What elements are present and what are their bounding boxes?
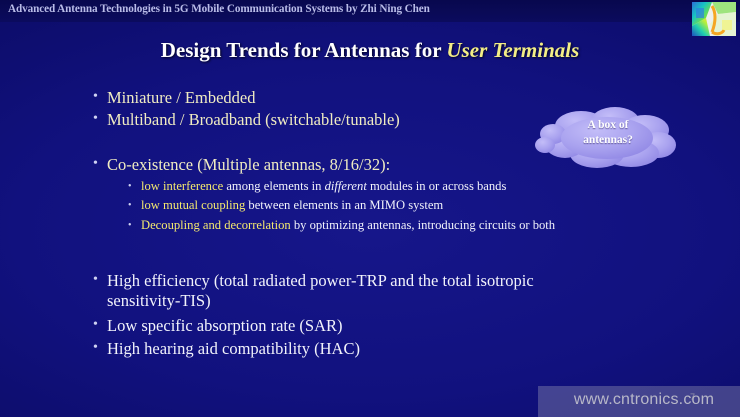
cloud-callout: A box of antennas?: [527, 104, 689, 172]
bullet-item-l1: •Low specific absorption rate (SAR): [93, 316, 343, 336]
bullet-segment: among elements in: [223, 179, 324, 193]
bullet-segment: low mutual coupling: [141, 198, 245, 212]
bullet-segment: different: [325, 179, 367, 193]
presentation-title: Advanced Antenna Technologies in 5G Mobi…: [8, 3, 430, 15]
bullet-text: Decoupling and decorrelation by optimizi…: [141, 218, 555, 234]
watermark-url: www.cntronics.com: [548, 391, 740, 409]
bullet-segment: by optimizing antennas, introducing circ…: [291, 218, 555, 232]
bullet-segment: Miniature / Embedded: [107, 88, 255, 107]
bullet-dot-icon: •: [93, 110, 107, 129]
bullet-segment: High efficiency (total radiated power-TR…: [107, 271, 534, 310]
bullet-item-l1: •High efficiency (total radiated power-T…: [93, 271, 563, 312]
bullet-item-l1: •High hearing aid compatibility (HAC): [93, 339, 360, 359]
page-title: Design Trends for Antennas for User Term…: [0, 38, 740, 63]
bullet-segment: Low specific absorption rate (SAR): [107, 316, 343, 335]
bullet-item-l2: •low interference among elements in diff…: [128, 179, 506, 195]
bullet-item-l2: •low mutual coupling between elements in…: [128, 198, 443, 214]
bullet-dot-icon: •: [93, 88, 107, 107]
bullet-text: High efficiency (total radiated power-TR…: [107, 271, 563, 312]
bullet-dot-icon: •: [93, 316, 107, 335]
bullet-segment: High hearing aid compatibility (HAC): [107, 339, 360, 358]
bullet-dot-icon: •: [93, 271, 107, 290]
bullet-text: Low specific absorption rate (SAR): [107, 316, 343, 336]
watermark-mark: 7: [690, 392, 695, 402]
bullet-segment: modules in or across bands: [367, 179, 507, 193]
bullet-segment: Multiband / Broadband (switchable/tunabl…: [107, 110, 400, 129]
bullet-dot-icon: •: [128, 198, 141, 214]
bullet-text: Miniature / Embedded: [107, 88, 255, 108]
bullet-item-l1: •Co-existence (Multiple antennas, 8/16/3…: [93, 155, 390, 175]
bullet-text: Multiband / Broadband (switchable/tunabl…: [107, 110, 400, 130]
bullet-item-l1: •Miniature / Embedded: [93, 88, 255, 108]
bullet-dot-icon: •: [93, 339, 107, 358]
bullet-item-l2: •Decoupling and decorrelation by optimiz…: [128, 218, 555, 234]
bullet-segment: between elements in an MIMO system: [245, 198, 443, 212]
bullet-segment: low interference: [141, 179, 223, 193]
page-title-main: Design Trends for Antennas for: [161, 38, 447, 62]
bullet-dot-icon: •: [93, 155, 107, 174]
slide-canvas: Advanced Antenna Technologies in 5G Mobi…: [0, 0, 740, 417]
bullet-text: Co-existence (Multiple antennas, 8/16/32…: [107, 155, 390, 175]
bullet-segment: Decoupling and decorrelation: [141, 218, 291, 232]
bullet-text: low mutual coupling between elements in …: [141, 198, 443, 214]
bullet-segment: Co-existence (Multiple antennas, 8/16/32…: [107, 155, 390, 174]
page-title-accent: User Terminals: [446, 38, 579, 62]
bullet-dot-icon: •: [128, 218, 141, 234]
bullet-text: low interference among elements in diffe…: [141, 179, 506, 195]
bullet-item-l1: •Multiband / Broadband (switchable/tunab…: [93, 110, 400, 130]
field-heatmap-thumbnail-icon: [692, 2, 736, 36]
bullet-dot-icon: •: [128, 179, 141, 195]
bullet-text: High hearing aid compatibility (HAC): [107, 339, 360, 359]
